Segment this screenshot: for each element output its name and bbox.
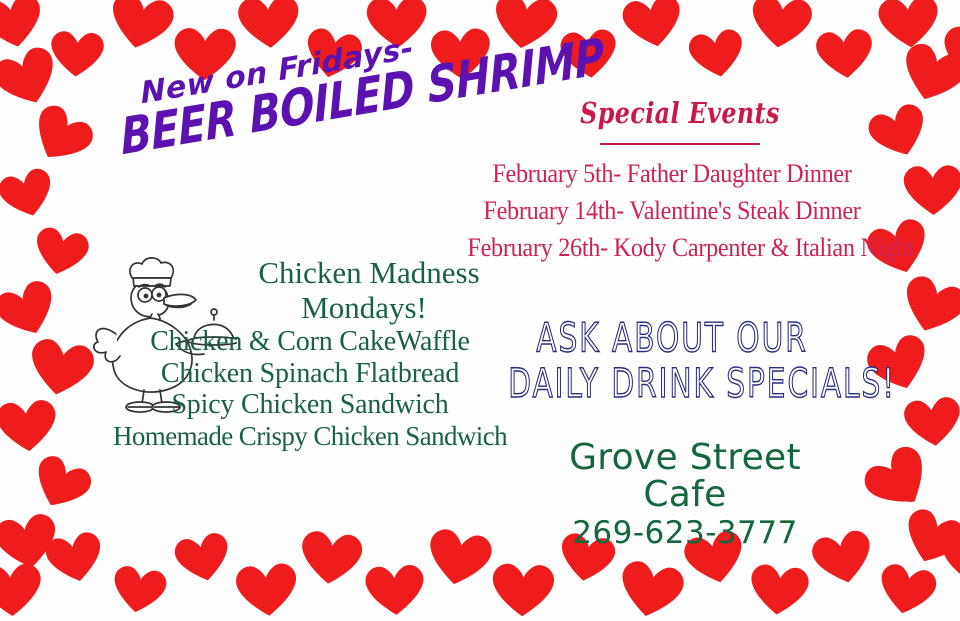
chicken-menu-heading-line2: Mondays!	[100, 290, 520, 325]
event-item: February 5th- Father Daughter Dinner	[467, 156, 876, 193]
heart-icon	[873, 0, 945, 55]
heart-icon	[419, 520, 500, 595]
menu-item: Spicy Chicken Sandwich	[100, 389, 520, 421]
menu-item: Homemade Crispy Chicken Sandwich	[100, 421, 520, 452]
heart-icon	[0, 557, 47, 621]
heart-icon	[682, 22, 751, 86]
chicken-madness-menu: Chicken Madness Mondays! Chicken & Corn …	[100, 255, 520, 452]
heart-icon	[892, 499, 960, 577]
heart-icon	[811, 22, 880, 85]
friday-special-banner: New on Fridays- BEER BOILED SHRIMP	[112, 30, 450, 158]
heart-icon	[611, 552, 692, 621]
heart-icon	[0, 37, 70, 120]
heart-icon	[105, 559, 172, 621]
heart-icon	[0, 160, 63, 228]
heart-icon	[168, 525, 238, 591]
heart-icon	[0, 505, 66, 578]
drink-specials-callout: ASK ABOUT OUR DAILY DRINK SPECIALS!	[508, 315, 836, 405]
heart-icon	[890, 33, 960, 115]
menu-item: Chicken & Corn CakeWaffle	[100, 326, 520, 358]
drink-specials-line2: DAILY DRINK SPECIALS!	[508, 361, 836, 406]
valentines-menu-flyer: New on Fridays- BEER BOILED SHRIMP	[0, 0, 960, 621]
heart-icon	[487, 557, 559, 621]
heart-icon	[39, 524, 112, 592]
event-item: February 26th- Kody Carpenter & Italian …	[467, 230, 876, 267]
heart-icon	[27, 220, 96, 285]
heart-icon	[891, 266, 960, 346]
heart-icon	[100, 0, 181, 60]
heart-icon	[744, 557, 815, 621]
cafe-phone-number: 269-623-3777	[520, 518, 850, 550]
special-events-list: February 5th- Father Daughter Dinner Feb…	[452, 156, 892, 267]
heart-icon	[21, 445, 101, 522]
heart-icon	[0, 271, 68, 350]
heart-icon	[615, 0, 690, 57]
heart-icon	[0, 0, 51, 58]
heart-icon	[899, 160, 960, 221]
cafe-name-line1: Grove Street	[520, 440, 850, 477]
heart-icon	[18, 94, 105, 179]
cafe-identity-block: Grove Street Cafe 269-623-3777	[520, 440, 850, 550]
heart-icon	[0, 393, 63, 459]
heart-icon	[744, 0, 819, 57]
heart-icon	[230, 556, 303, 621]
heart-icon	[233, 0, 305, 55]
drink-specials-line1: ASK ABOUT OUR	[508, 315, 836, 360]
menu-item: Chicken Spinach Flatbread	[100, 358, 520, 390]
heart-icon	[871, 556, 944, 621]
heart-icon	[898, 390, 960, 454]
heart-icon	[939, 529, 960, 587]
heart-icon	[20, 330, 101, 406]
cafe-name-line2: Cafe	[520, 477, 850, 514]
heart-icon	[361, 559, 430, 621]
heart-icon	[294, 524, 369, 593]
heart-icon	[935, 18, 960, 89]
heart-icon	[852, 434, 946, 526]
event-item: February 14th- Valentine's Steak Dinner	[467, 193, 876, 230]
special-events-heading: Special Events	[508, 96, 852, 130]
special-events-underline	[600, 143, 760, 145]
heart-icon	[46, 25, 109, 82]
